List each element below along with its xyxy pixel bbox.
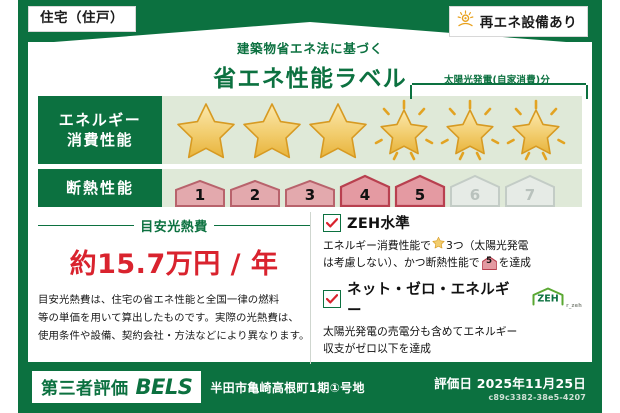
insulation-scale: 1 2 3 [162, 169, 556, 207]
star-6-solar [504, 99, 568, 161]
cost-heading: 目安光熱費 [140, 216, 208, 235]
cost-note-line-2: 等の単価を用いて算出したものです。実際の光熱費は、 [38, 310, 310, 328]
lower-section: 目安光熱費 約15.7万円 / 年 目安光熱費は、住宅の省エネ性能と全国一律の燃… [38, 212, 582, 364]
solar-bracket [410, 85, 588, 99]
insulation-level-7: 7 [504, 174, 556, 207]
cost-note-line-1: 目安光熱費は、住宅の省エネ性能と全国一律の燃料 [38, 292, 310, 310]
claim-nze-body: 太陽光発電の売電分も含めてエネルギー 収支がゼロ以下を達成 [323, 323, 582, 358]
bottom-bar: 第三者評価 BELS 半田市亀崎高根町1期①号地 評価日 2025年11月25日… [28, 365, 592, 409]
energy-row-label: エネルギー 消費性能 [38, 96, 162, 164]
cost-heading-row: 目安光熱費 [38, 216, 310, 235]
claim-zeh-line-2: は考慮しない）、かつ断熱性能で 5 を達成 [323, 254, 582, 271]
star-1 [174, 99, 238, 161]
insulation-level-6: 6 [449, 174, 501, 207]
insulation-row-body: 1 2 3 [162, 169, 582, 207]
insulation-level-4: 4 [339, 174, 391, 207]
zeh-house-icon: ZEH [531, 287, 565, 310]
cost-value: 約15.7万円 / 年 [38, 242, 310, 281]
claim-nze-head: ネット・ゼロ・エネルギー ZEH r_zeh [323, 278, 582, 320]
star-2 [240, 99, 304, 161]
bels-jp-label: 第三者評価 [41, 374, 129, 399]
inline-house-icon: 5 [482, 256, 497, 270]
claim-nze-line-2: 収支がゼロ以下を達成 [323, 340, 582, 357]
evaluation-info: 評価日 2025年11月25日 c89c3382-38e5-4207 [434, 373, 592, 402]
renewable-equipment-badge: 再エネ設備あり [449, 6, 588, 37]
claim-zeh-body: エネルギー消費性能で 3つ（太陽光発電 は考慮しない）、かつ断熱性能で [323, 236, 582, 272]
title-subtitle: 建築物省エネ法に基づく [0, 38, 620, 57]
building-type-tab: 住宅（住戸） [28, 6, 136, 32]
claim-nze-title: ネット・ゼロ・エネルギー [347, 278, 521, 320]
svg-text:ZEH: ZEH [538, 294, 559, 305]
inline-star-icon [432, 236, 445, 254]
star-3 [306, 99, 370, 161]
bels-en-label: BELS [136, 375, 193, 399]
claim-net-zero-energy: ネット・ゼロ・エネルギー ZEH r_zeh 太陽光発電の売電分も含めてエネルギ… [323, 278, 582, 358]
star-5-solar [438, 99, 502, 161]
insulation-level-1: 1 [174, 179, 226, 207]
insulation-level-3: 3 [284, 179, 336, 207]
claim-zeh-standard: ZEH水準 エネルギー消費性能で 3つ（太陽光発電 は考慮しない）、かつ断熱性能 [323, 212, 582, 272]
cost-note: 目安光熱費は、住宅の省エネ性能と全国一律の燃料 等の単価を用いて算出したものです… [38, 292, 310, 346]
checkbox-checked-icon [323, 290, 341, 308]
evaluation-date: 評価日 2025年11月25日 [434, 373, 586, 392]
claim-nze-line-1: 太陽光発電の売電分も含めてエネルギー [323, 323, 582, 340]
checkbox-checked-icon [323, 214, 341, 232]
insulation-row: 断熱性能 1 2 [38, 169, 582, 207]
evaluation-code: c89c3382-38e5-4207 [434, 393, 586, 402]
bels-badge: 第三者評価 BELS [32, 371, 201, 403]
claim-zeh-line-1: エネルギー消費性能で 3つ（太陽光発電 [323, 236, 582, 254]
cost-rule-right [214, 225, 310, 226]
claim-zeh-head: ZEH水準 [323, 212, 582, 233]
cost-rule-left [38, 225, 134, 226]
sun-icon [456, 10, 475, 32]
claims-panel: ZEH水準 エネルギー消費性能で 3つ（太陽光発電 は考慮しない）、かつ断熱性能 [310, 212, 582, 364]
energy-row-body: 太陽光発電(自家消費)分 [162, 96, 582, 164]
star-rating [162, 99, 568, 161]
property-address: 半田市亀崎高根町1期①号地 [210, 379, 364, 396]
insulation-level-2: 2 [229, 179, 281, 207]
zeh-logo-subtext: r_zeh [566, 303, 582, 310]
zeh-logo: ZEH r_zeh [531, 287, 582, 310]
performance-rows: エネルギー 消費性能 [38, 96, 582, 212]
star-4-solar [372, 99, 436, 161]
energy-performance-label: 住宅（住戸） 再エネ設備あり 建築物省エネ法に基づく 省エネ性能ラベル [0, 0, 620, 413]
claim-zeh-title: ZEH水準 [347, 212, 410, 233]
cost-note-line-3: 使用条件や設備、契約会社・方法などにより異なります。 [38, 328, 310, 346]
energy-cost-panel: 目安光熱費 約15.7万円 / 年 目安光熱費は、住宅の省エネ性能と全国一律の燃… [38, 212, 310, 364]
energy-consumption-row: エネルギー 消費性能 [38, 96, 582, 164]
insulation-row-label: 断熱性能 [38, 169, 162, 207]
insulation-level-5: 5 [394, 174, 446, 207]
renewable-badge-label: 再エネ設備あり [480, 11, 577, 31]
